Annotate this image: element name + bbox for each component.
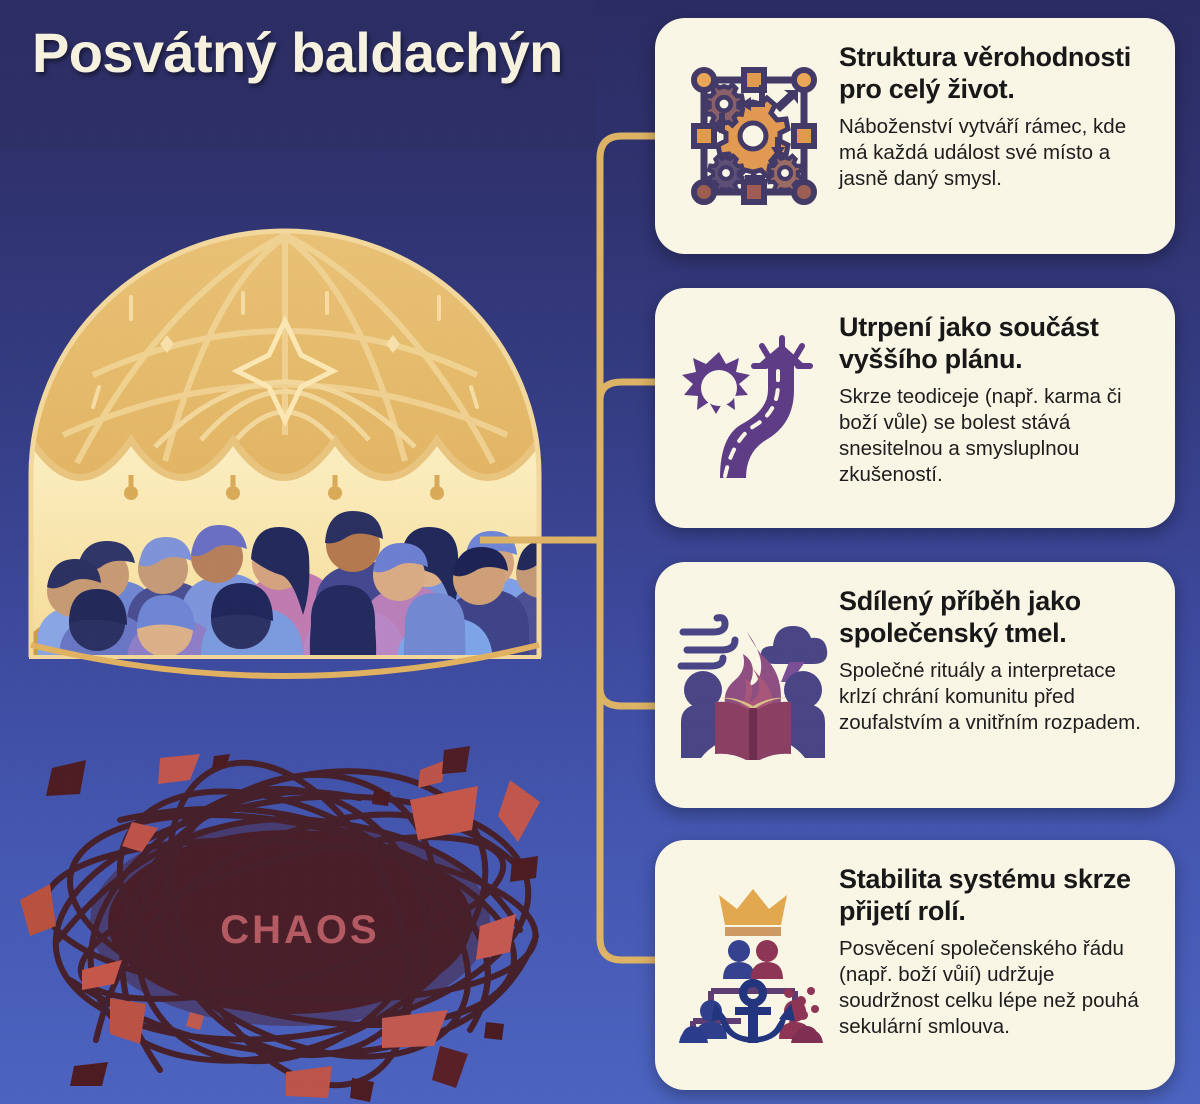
card-body: Posvěcení společenského řádu (např. boží…	[839, 936, 1155, 1040]
title-block: Posvátný baldachýn	[0, 0, 595, 150]
page-title: Posvátný baldachýn	[32, 20, 563, 85]
card-title: Stabilita systému skrze přijetí rolí.	[839, 864, 1155, 927]
infographic-page: CHAOS	[0, 0, 1200, 1104]
card-title: Utrpení jako součást vyššího plánu.	[839, 312, 1155, 375]
card-text: Utrpení jako součást vyššího plánu. Skrz…	[833, 306, 1155, 488]
winding-road-sun-icon	[673, 306, 833, 510]
sun-icon	[682, 352, 750, 414]
info-card[interactable]: Utrpení jako součást vyššího plánu. Skrz…	[655, 288, 1175, 528]
sacred-canopy-illustration	[15, 225, 555, 695]
card-body: Společné rituály a interpretace krlzí ch…	[839, 658, 1155, 736]
info-card[interactable]: Sdílený příběh jako společenský tmel. Sp…	[655, 562, 1175, 808]
gears-network-icon	[673, 36, 833, 236]
crown-icon	[719, 889, 787, 936]
two-people-book-flame-icon	[673, 580, 833, 790]
card-title: Struktura věrohodnosti pro celý život.	[839, 42, 1155, 105]
card-title: Sdílený příběh jako společenský tmel.	[839, 586, 1155, 649]
open-book-icon	[715, 698, 791, 760]
info-card[interactable]: Stabilita systému skrze přijetí rolí. Po…	[655, 840, 1175, 1090]
crown-hierarchy-anchor-icon	[673, 858, 833, 1072]
hierarchy-tier-1	[723, 940, 783, 979]
card-body: Skrze teodiceje (např. karma či boží vůl…	[839, 384, 1155, 488]
info-card[interactable]: Struktura věrohodnosti pro celý život. N…	[655, 18, 1175, 254]
wind-icon	[681, 618, 735, 666]
card-text: Stabilita systému skrze přijetí rolí. Po…	[833, 858, 1155, 1040]
card-text: Struktura věrohodnosti pro celý život. N…	[833, 36, 1155, 192]
card-text: Sdílený příběh jako společenský tmel. Sp…	[833, 580, 1155, 736]
dome-svg	[15, 225, 555, 695]
card-body: Náboženství vytváří rámec, kde má každá …	[839, 114, 1155, 192]
